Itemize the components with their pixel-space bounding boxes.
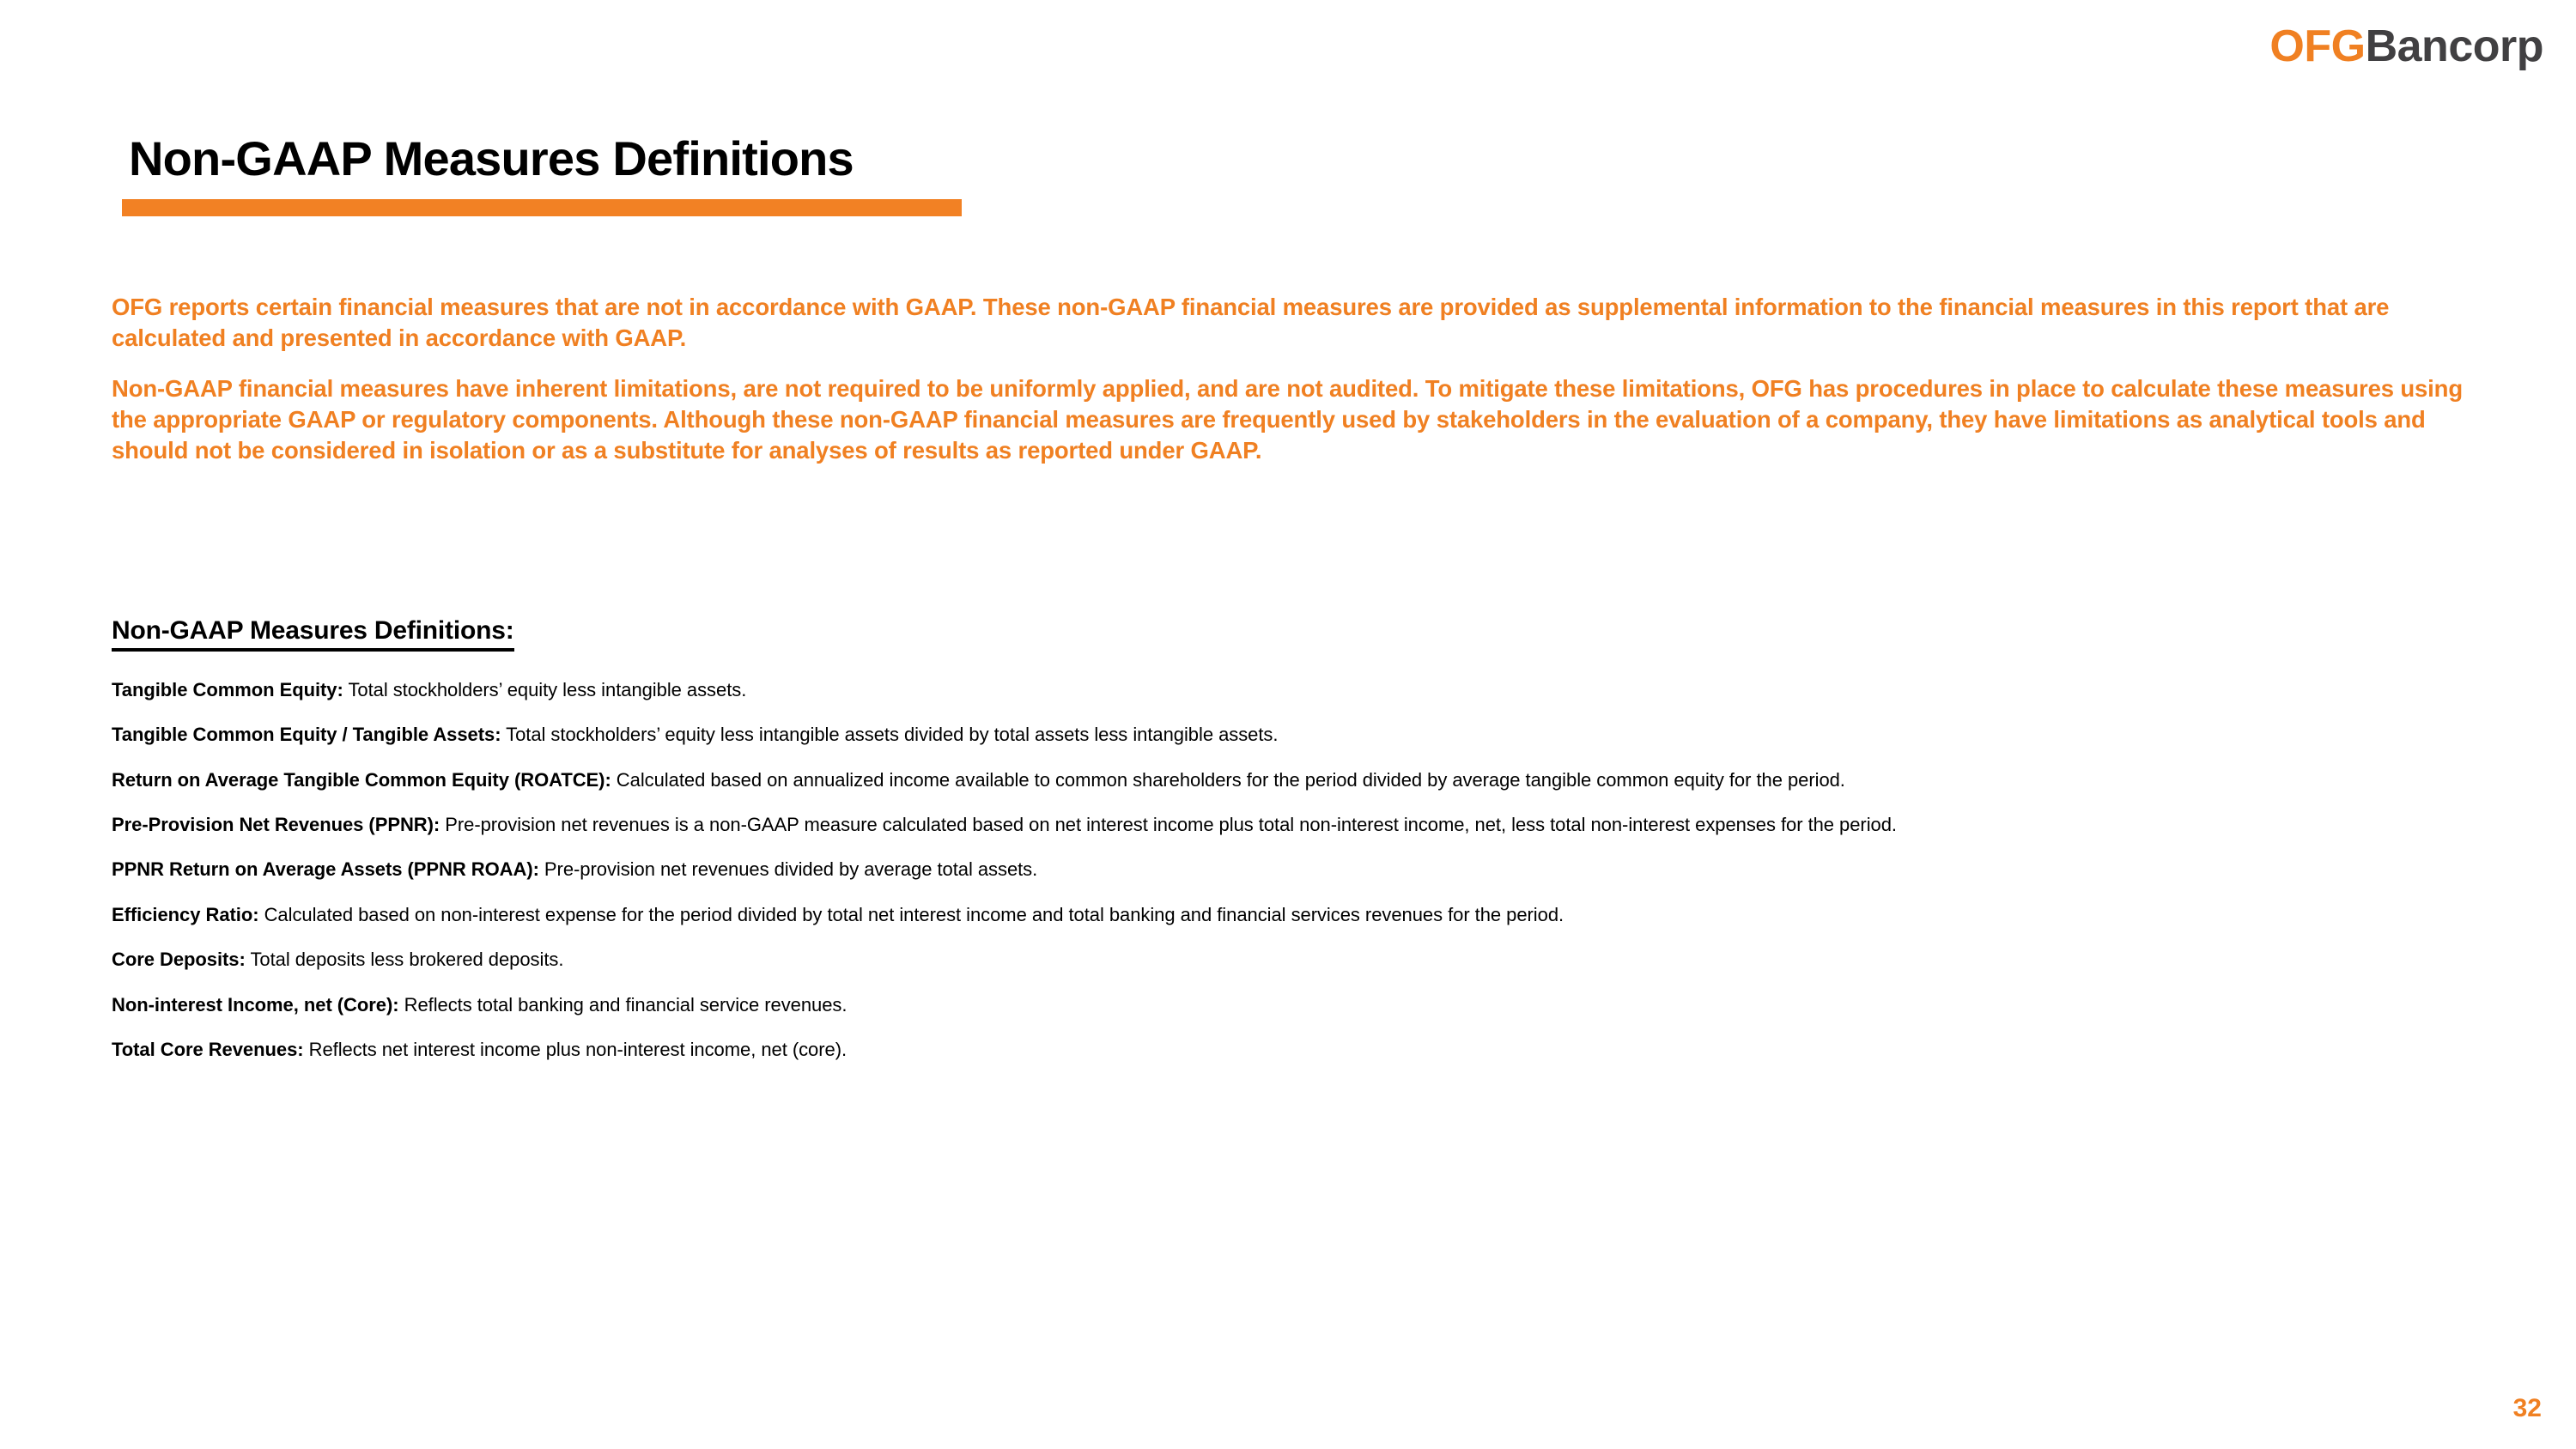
definition-item: Efficiency Ratio: Calculated based on no… (112, 902, 2490, 928)
definition-item: Non-interest Income, net (Core): Reflect… (112, 992, 2490, 1018)
definition-description: Pre-provision net revenues divided by av… (539, 858, 1037, 880)
definition-term: Total Core Revenues: (112, 1039, 304, 1060)
definition-item: PPNR Return on Average Assets (PPNR ROAA… (112, 857, 2490, 882)
definition-item: Core Deposits: Total deposits less broke… (112, 947, 2490, 973)
title-underline-rule (122, 199, 962, 216)
definition-description: Total stockholders’ equity less intangib… (501, 724, 1278, 745)
title-block: Non-GAAP Measures Definitions (129, 134, 962, 216)
definition-term: Tangible Common Equity: (112, 679, 343, 700)
intro-paragraph-1: OFG reports certain financial measures t… (112, 292, 2482, 355)
definition-description: Total stockholders’ equity less intangib… (343, 679, 746, 700)
definitions-section: Non-GAAP Measures Definitions: Tangible … (112, 616, 2490, 1063)
definition-term: Efficiency Ratio: (112, 904, 259, 925)
page-title: Non-GAAP Measures Definitions (129, 134, 962, 185)
definition-description: Reflects net interest income plus non-in… (304, 1039, 848, 1060)
logo-bancorp-text: Bancorp (2366, 21, 2543, 71)
definition-description: Pre-provision net revenues is a non-GAAP… (440, 814, 1897, 835)
definitions-heading: Non-GAAP Measures Definitions: (112, 616, 514, 652)
definition-item: Tangible Common Equity: Total stockholde… (112, 677, 2490, 703)
definition-term: Non-interest Income, net (Core): (112, 994, 399, 1016)
definition-item: Tangible Common Equity / Tangible Assets… (112, 722, 2490, 748)
definition-term: Pre-Provision Net Revenues (PPNR): (112, 814, 440, 835)
definition-term: Core Deposits: (112, 949, 246, 970)
definition-description: Reflects total banking and financial ser… (399, 994, 848, 1016)
intro-section: OFG reports certain financial measures t… (112, 292, 2482, 466)
definition-description: Calculated based on non-interest expense… (259, 904, 1564, 925)
definition-item: Pre-Provision Net Revenues (PPNR): Pre-p… (112, 812, 2490, 838)
definition-item: Return on Average Tangible Common Equity… (112, 767, 2490, 793)
company-logo: OFGBancorp (2269, 24, 2543, 69)
definition-term: Return on Average Tangible Common Equity… (112, 769, 611, 791)
definition-item: Total Core Revenues: Reflects net intere… (112, 1037, 2490, 1063)
definition-description: Total deposits less brokered deposits. (246, 949, 564, 970)
definition-term: PPNR Return on Average Assets (PPNR ROAA… (112, 858, 539, 880)
definition-term: Tangible Common Equity / Tangible Assets… (112, 724, 501, 745)
logo-ofg-text: OFG (2269, 21, 2365, 71)
page-number: 32 (2513, 1394, 2542, 1423)
intro-paragraph-2: Non-GAAP financial measures have inheren… (112, 373, 2482, 467)
definition-description: Calculated based on annualized income av… (611, 769, 1845, 791)
